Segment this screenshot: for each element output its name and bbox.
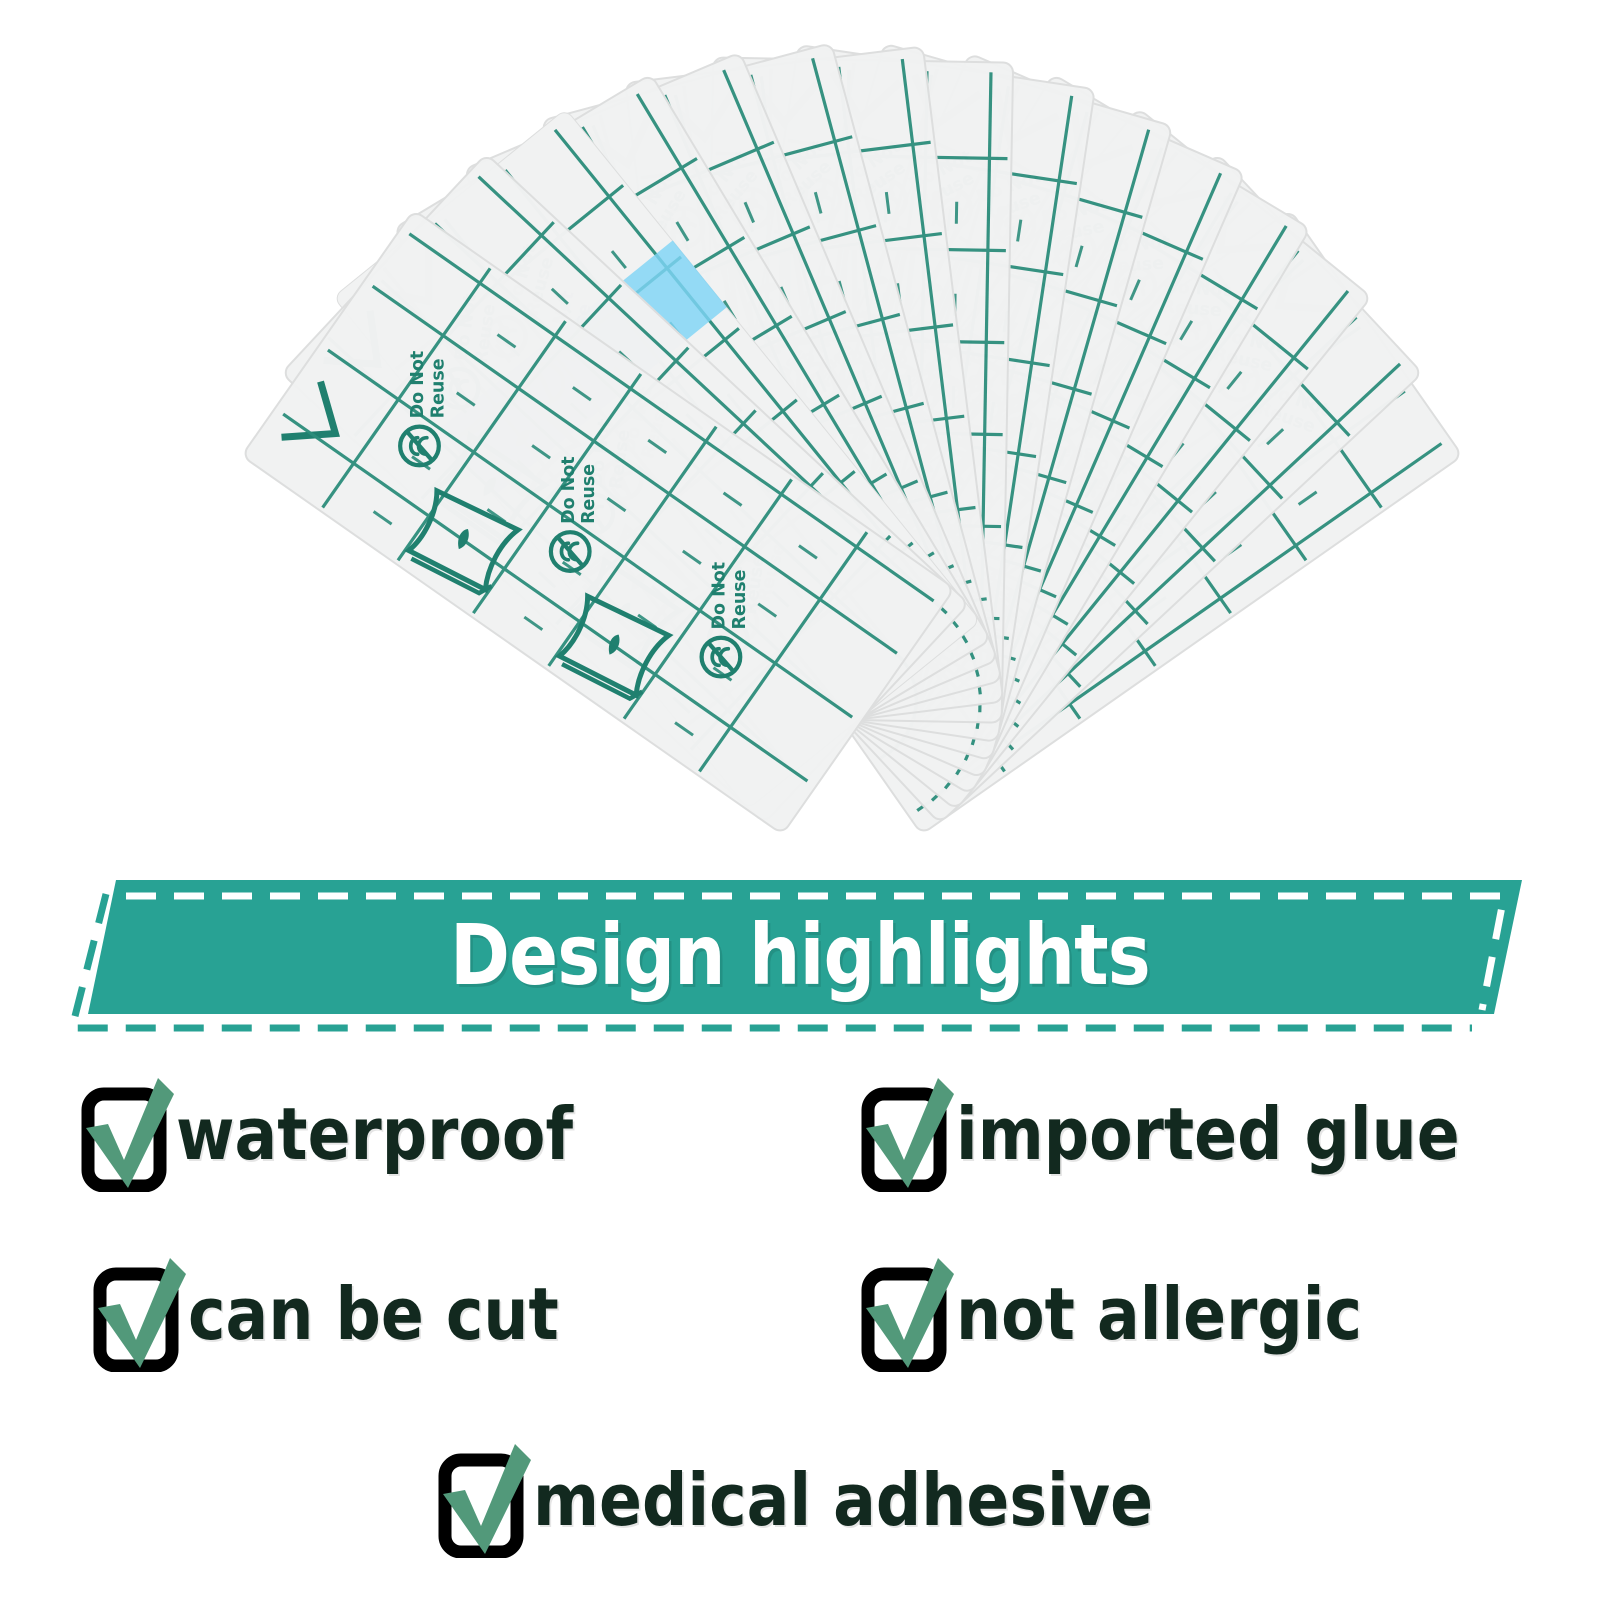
feature-list: waterproof imported glue can be cut xyxy=(0,1070,1600,1600)
feature-item-not-allergic: not allergic xyxy=(858,1256,1417,1372)
banner-shape xyxy=(70,862,1540,1047)
product-infographic: Do Not Reuse Do Not Reuse xyxy=(0,0,1600,1600)
feature-item-waterproof: waterproof xyxy=(78,1076,627,1192)
feature-item-imported-glue: imported glue xyxy=(858,1076,1528,1192)
checkbox-checked-icon xyxy=(90,1256,194,1372)
checkbox-checked-icon xyxy=(858,1256,962,1372)
design-highlights-banner xyxy=(70,862,1540,1047)
feature-label: imported glue xyxy=(956,1098,1460,1170)
feature-label: waterproof xyxy=(176,1098,573,1170)
feature-label: not allergic xyxy=(956,1278,1362,1350)
feature-item-can-be-cut: can be cut xyxy=(90,1256,609,1372)
feature-item-medical-adhesive: medical adhesive xyxy=(435,1442,1238,1558)
banner-fill xyxy=(88,880,1522,1014)
patch-fan-illustration: Do Not Reuse Do Not Reuse xyxy=(0,0,1600,860)
patch-stack: Do Not Reuse xyxy=(242,43,1463,834)
feature-label: medical adhesive xyxy=(533,1464,1153,1536)
checkbox-checked-icon xyxy=(78,1076,182,1192)
feature-label: can be cut xyxy=(188,1278,559,1350)
checkbox-checked-icon xyxy=(858,1076,962,1192)
product-photo-fan: Do Not Reuse Do Not Reuse xyxy=(0,0,1600,860)
checkbox-checked-icon xyxy=(435,1442,539,1558)
